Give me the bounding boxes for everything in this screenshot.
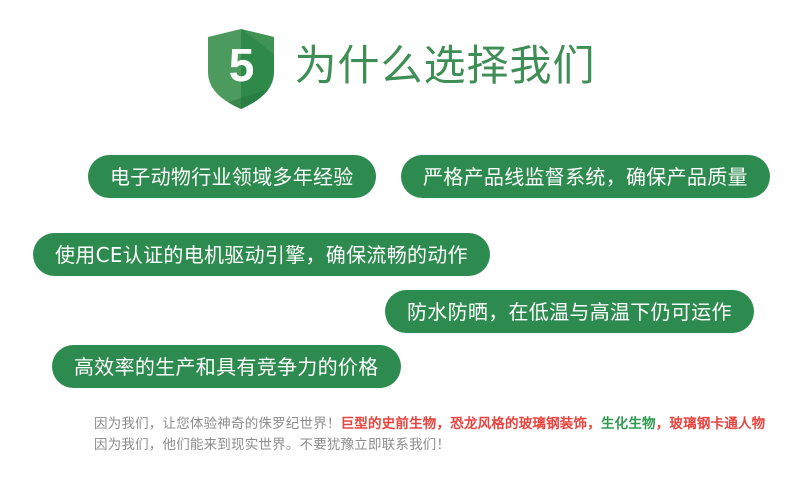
- footer-highlight-red-b: ，玻璃钢卡通人物: [656, 416, 766, 432]
- footer-line1-lead: 因为我们，让您体验神奇的侏罗纪世界！: [94, 416, 341, 432]
- feature-pill-ce-motor[interactable]: 使用CE认证的电机驱动引擎，确保流畅的动作: [33, 233, 490, 276]
- feature-pill-quality[interactable]: 严格产品线监督系统，确保产品质量: [401, 155, 770, 198]
- footer-line-1: 因为我们，让您体验神奇的侏罗纪世界！巨型的史前生物，恐龙风格的玻璃钢装饰，生化生…: [94, 414, 734, 435]
- footer-line-2: 因为我们，他们能来到现实世界。不要犹豫立即联系我们！: [94, 435, 734, 456]
- feature-pill-price[interactable]: 高效率的生产和具有竞争力的价格: [52, 345, 401, 388]
- shield-icon: 5: [204, 28, 278, 110]
- feature-pill-experience[interactable]: 电子动物行业领域多年经验: [88, 155, 376, 198]
- promo-banner: 5 为什么选择我们 电子动物行业领域多年经验 严格产品线监督系统，确保产品质量 …: [0, 0, 800, 485]
- footer-highlight-red-a: 巨型的史前生物，恐龙风格的玻璃钢装饰，: [341, 416, 601, 432]
- feature-pill-weather[interactable]: 防水防晒，在低温与高温下仍可运作: [385, 290, 754, 333]
- shield-number: 5: [204, 28, 278, 110]
- header: 5 为什么选择我们: [0, 26, 800, 112]
- footer-copy: 因为我们，让您体验神奇的侏罗纪世界！巨型的史前生物，恐龙风格的玻璃钢装饰，生化生…: [94, 414, 734, 456]
- footer-highlight-green: 生化生物: [601, 416, 656, 432]
- page-title: 为什么选择我们: [294, 45, 595, 93]
